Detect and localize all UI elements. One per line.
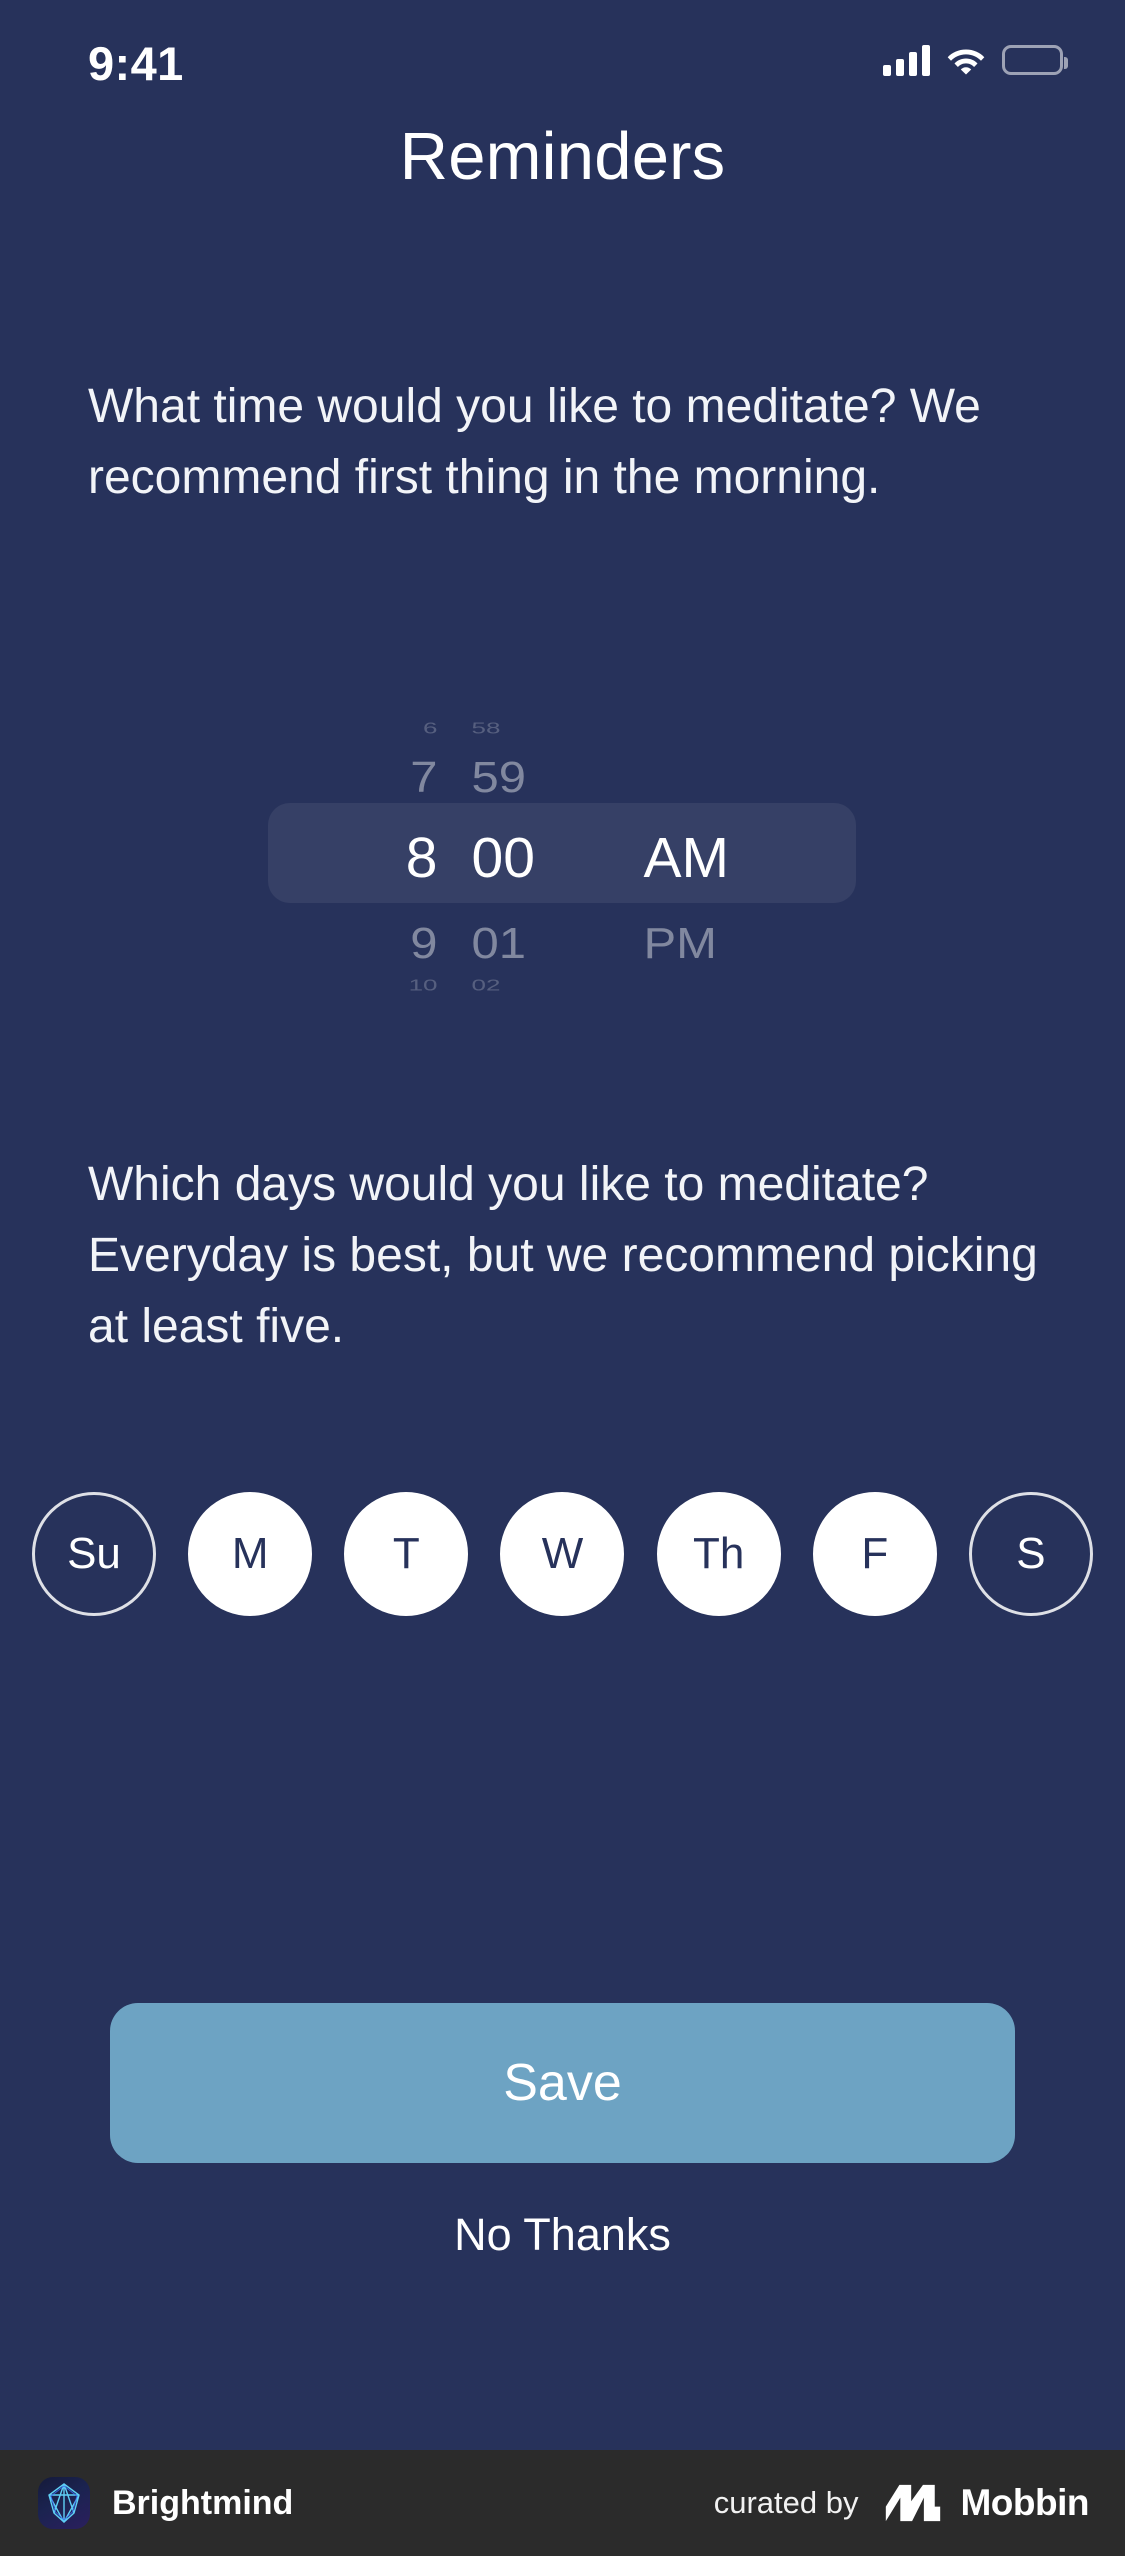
battery-icon [1002, 45, 1063, 75]
day-toggle-t[interactable]: T [344, 1492, 468, 1616]
curated-by-label: curated by [714, 2485, 859, 2521]
mobbin-mark-icon [884, 2483, 942, 2523]
curated-by-group: curated by Mobbin [714, 2482, 1089, 2524]
hour-option-selected[interactable]: 8 [300, 830, 448, 887]
day-label: Th [693, 1529, 744, 1579]
minute-option[interactable]: 01 [448, 923, 596, 966]
day-toggle-f[interactable]: F [813, 1492, 937, 1616]
cellular-signal-icon [883, 44, 930, 76]
status-bar-time: 9:41 [88, 36, 184, 91]
save-button[interactable]: Save [110, 2003, 1015, 2163]
day-toggle-su[interactable]: Su [32, 1492, 156, 1616]
status-bar: 9:41 [0, 0, 1125, 120]
page-title: Reminders [0, 118, 1125, 195]
day-toggle-m[interactable]: M [188, 1492, 312, 1616]
day-toggle-w[interactable]: W [500, 1492, 624, 1616]
app-name-label: Brightmind [112, 2484, 293, 2523]
day-label: W [542, 1529, 584, 1579]
days-question-text: Which days would you like to meditate? E… [88, 1149, 1048, 1362]
mobbin-name-label: Mobbin [960, 2482, 1089, 2524]
brightmind-app-icon [38, 2477, 90, 2529]
hour-wheel[interactable]: 6 7 8 9 10 [300, 690, 448, 1020]
time-question-text: What time would you like to meditate? We… [88, 371, 1048, 513]
wifi-icon [946, 45, 986, 75]
minute-wheel[interactable]: 58 59 00 01 02 [448, 690, 596, 1020]
minute-option[interactable]: 59 [448, 757, 596, 800]
minute-option[interactable]: 58 [448, 720, 596, 736]
day-label: M [232, 1529, 269, 1579]
minute-option[interactable]: 02 [448, 977, 596, 993]
no-thanks-button[interactable]: No Thanks [0, 2209, 1125, 2261]
day-label: F [861, 1529, 888, 1579]
hour-option[interactable]: 7 [300, 757, 448, 800]
meridiem-option[interactable]: PM [596, 923, 826, 966]
app-brand: Brightmind [38, 2477, 293, 2529]
status-bar-indicators [883, 44, 1063, 76]
day-label: T [393, 1529, 420, 1579]
meridiem-option-selected[interactable]: AM [596, 830, 826, 887]
minute-option-selected[interactable]: 00 [448, 830, 596, 887]
mobbin-logo: Mobbin [884, 2482, 1089, 2524]
phone-screen: 9:41 Reminders What time would you like … [0, 0, 1125, 2556]
day-toggle-s[interactable]: S [969, 1492, 1093, 1616]
hour-option[interactable]: 6 [300, 720, 448, 736]
time-picker[interactable]: 6 7 8 9 10 58 59 00 01 02 AM PM [0, 690, 1125, 1020]
hour-option[interactable]: 9 [300, 923, 448, 966]
hour-option[interactable]: 10 [300, 977, 448, 993]
day-toggle-th[interactable]: Th [657, 1492, 781, 1616]
attribution-bar: Brightmind curated by Mobbin [0, 2450, 1125, 2556]
day-label: S [1016, 1529, 1045, 1579]
day-selector: Su M T W Th F S [32, 1484, 1093, 1624]
meridiem-wheel[interactable]: AM PM [596, 690, 826, 1020]
day-label: Su [67, 1529, 121, 1579]
